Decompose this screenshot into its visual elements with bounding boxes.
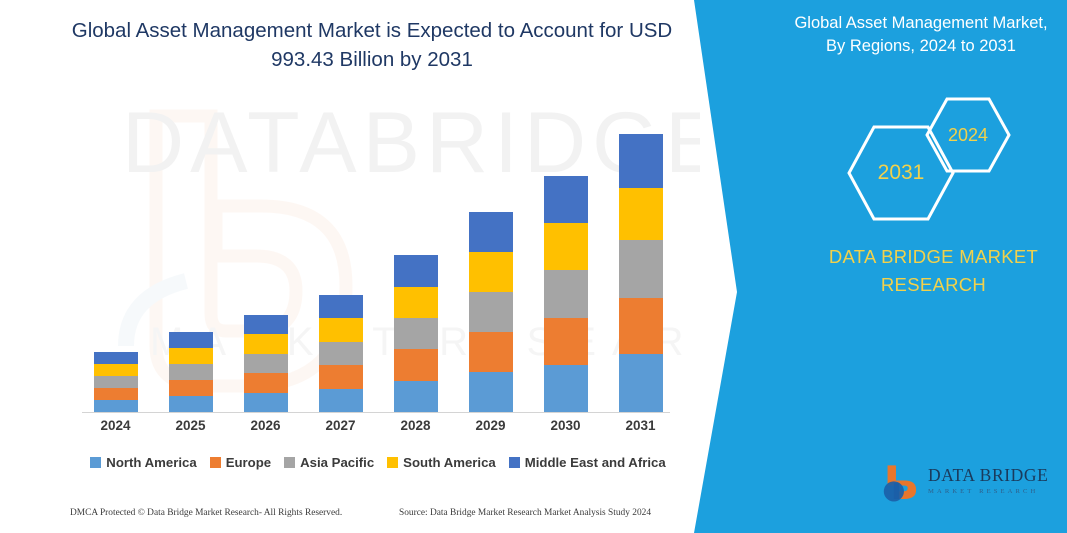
bar-segment — [244, 354, 288, 373]
x-axis-label-2028: 2028 — [378, 418, 453, 433]
chart-legend: North AmericaEuropeAsia PacificSouth Ame… — [78, 455, 678, 470]
bar-slot-2026 — [228, 100, 303, 412]
bar-segment — [94, 352, 138, 364]
legend-swatch-icon — [509, 457, 520, 468]
x-axis-line — [82, 412, 670, 413]
bar-segment — [544, 318, 588, 365]
footer-source: Source: Data Bridge Market Research Mark… — [399, 508, 651, 518]
bar-segment — [394, 349, 438, 380]
legend-swatch-icon — [387, 457, 398, 468]
bar-segment — [619, 354, 663, 412]
bar-segment — [394, 318, 438, 349]
bar-slot-2029 — [453, 100, 528, 412]
bar-segment — [469, 332, 513, 372]
stacked-bar-2027[interactable] — [319, 295, 363, 412]
bar-segment — [469, 252, 513, 292]
bar-slot-2031 — [603, 100, 678, 412]
bar-slot-2027 — [303, 100, 378, 412]
bar-segment — [244, 315, 288, 334]
brand-text: DATA BRIDGE MARKET RESEARCH — [800, 243, 1067, 299]
logo-title: DATA BRIDGE — [928, 465, 1048, 486]
bar-segment — [619, 134, 663, 188]
bar-segment — [544, 223, 588, 270]
infographic-root: DATABRIDGE MARKET RESEARCH Global Asset … — [0, 0, 1067, 533]
bar-segment — [469, 372, 513, 412]
legend-item-middle-east-and-africa[interactable]: Middle East and Africa — [509, 455, 666, 470]
bar-segment — [619, 188, 663, 240]
bar-segment — [94, 364, 138, 376]
bar-segment — [319, 342, 363, 366]
legend-label: Asia Pacific — [300, 455, 374, 470]
bar-segment — [94, 400, 138, 412]
stacked-bar-2028[interactable] — [394, 255, 438, 412]
legend-swatch-icon — [90, 457, 101, 468]
bar-segment — [244, 334, 288, 353]
x-axis-label-2027: 2027 — [303, 418, 378, 433]
bar-segment — [244, 373, 288, 392]
bar-slot-2025 — [153, 100, 228, 412]
bar-segment — [319, 295, 363, 318]
legend-label: Europe — [226, 455, 271, 470]
hex-badge-group: 2031 2024 — [820, 92, 1060, 222]
bar-segment — [394, 287, 438, 318]
legend-label: Middle East and Africa — [525, 455, 666, 470]
legend-item-europe[interactable]: Europe — [210, 455, 271, 470]
bar-segment — [619, 240, 663, 298]
x-axis-label-2031: 2031 — [603, 418, 678, 433]
stacked-bar-2025[interactable] — [169, 332, 213, 412]
bar-slot-2030 — [528, 100, 603, 412]
x-axis-label-2026: 2026 — [228, 418, 303, 433]
stacked-bar-2031[interactable] — [619, 134, 663, 412]
logo-subtitle: MARKET RESEARCH — [928, 488, 1048, 495]
bar-segment — [319, 389, 363, 413]
logo-text: DATA BRIDGE MARKET RESEARCH — [928, 465, 1048, 495]
footer-copyright: DMCA Protected © Data Bridge Market Rese… — [70, 508, 342, 518]
right-panel-title: Global Asset Management Market, By Regio… — [786, 12, 1056, 59]
legend-swatch-icon — [284, 457, 295, 468]
x-axis-label-2030: 2030 — [528, 418, 603, 433]
data-bridge-b-logo-icon — [880, 462, 922, 504]
page-title: Global Asset Management Market is Expect… — [62, 16, 682, 74]
bar-segment — [169, 348, 213, 364]
data-bridge-logo: DATA BRIDGE MARKET RESEARCH — [880, 460, 1060, 506]
bar-segment — [544, 176, 588, 223]
x-axis-label-2024: 2024 — [78, 418, 153, 433]
bar-slot-2028 — [378, 100, 453, 412]
bar-segment — [544, 365, 588, 412]
bar-segment — [469, 212, 513, 252]
chart-plot-area — [78, 100, 678, 413]
bar-segment — [619, 298, 663, 354]
legend-item-asia-pacific[interactable]: Asia Pacific — [284, 455, 374, 470]
bar-segment — [94, 376, 138, 388]
bar-segment — [319, 365, 363, 388]
bar-segment — [394, 381, 438, 412]
footer: DMCA Protected © Data Bridge Market Rese… — [0, 508, 700, 530]
bar-segment — [169, 332, 213, 348]
stacked-bar-2030[interactable] — [544, 176, 588, 412]
legend-label: South America — [403, 455, 496, 470]
x-axis-label-2029: 2029 — [453, 418, 528, 433]
bar-segment — [169, 396, 213, 412]
hex-badge-2024: 2024 — [924, 96, 1012, 174]
hex-badge-2024-label: 2024 — [948, 125, 988, 146]
legend-item-south-america[interactable]: South America — [387, 455, 496, 470]
hex-badge-2031-label: 2031 — [878, 161, 925, 185]
legend-item-north-america[interactable]: North America — [90, 455, 196, 470]
bar-segment — [244, 393, 288, 412]
x-axis-label-2025: 2025 — [153, 418, 228, 433]
legend-label: North America — [106, 455, 196, 470]
bar-segment — [394, 255, 438, 287]
stacked-bar-2024[interactable] — [94, 352, 138, 412]
bar-segment — [169, 364, 213, 380]
stacked-bar-2026[interactable] — [244, 315, 288, 412]
bar-slot-2024 — [78, 100, 153, 412]
bar-segment — [169, 380, 213, 396]
legend-swatch-icon — [210, 457, 221, 468]
bar-group — [78, 100, 678, 412]
bar-segment — [544, 270, 588, 317]
stacked-bar-2029[interactable] — [469, 212, 513, 412]
x-axis-labels: 20242025202620272028202920302031 — [78, 418, 678, 433]
bar-segment — [319, 318, 363, 341]
bar-segment — [94, 388, 138, 400]
stacked-bar-chart: 20242025202620272028202920302031 — [78, 100, 678, 415]
bar-segment — [469, 292, 513, 332]
